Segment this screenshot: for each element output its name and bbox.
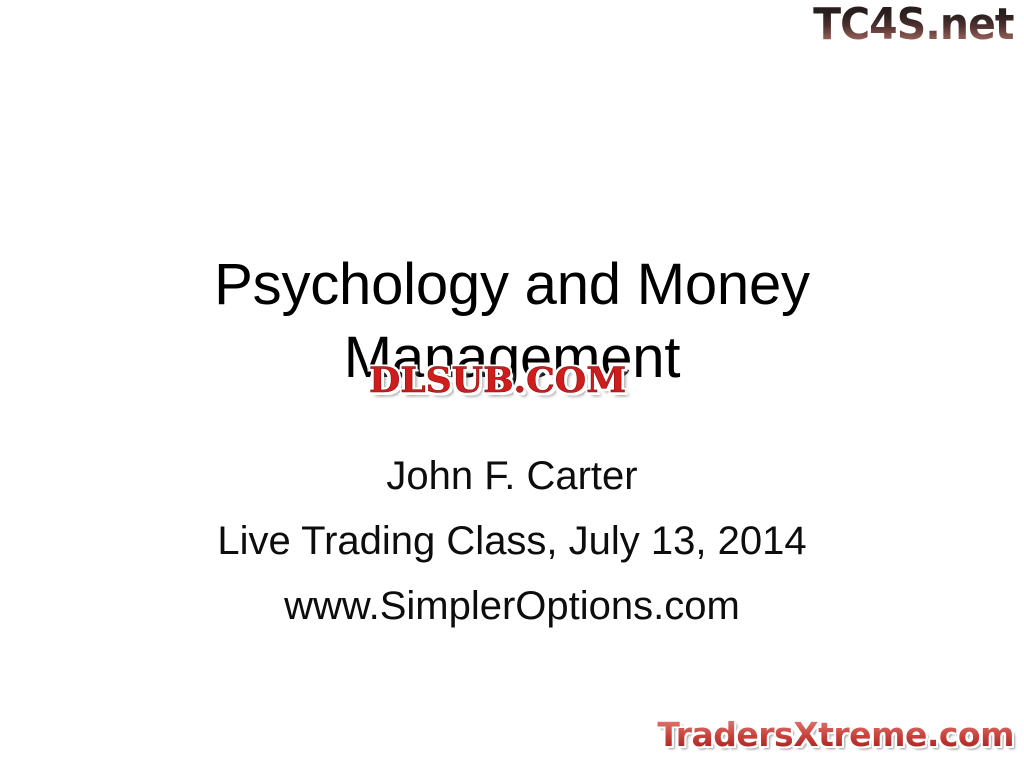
slide-subtitle-presenter: John F. Carter	[0, 444, 1024, 509]
slide-subtitle-website: www.SimplerOptions.com	[0, 574, 1024, 639]
tradersxtreme-com-watermark: TradersXtreme.com	[657, 716, 1014, 754]
slide-subtitle-class-date: Live Trading Class, July 13, 2014	[0, 509, 1024, 574]
dlsub-com-watermark: DLSUB.COM	[369, 361, 626, 401]
slide-subtitle: John F. Carter Live Trading Class, July …	[0, 444, 1024, 639]
slide-title-line-1: Psychology and Money	[0, 248, 1024, 321]
tradersxtreme-watermark-label: TradersXtreme.com	[657, 715, 1014, 754]
tc4s-net-watermark: TC4S.net	[814, 2, 1014, 48]
presentation-slide: TC4S.net Psychology and Money Management…	[0, 0, 1024, 768]
